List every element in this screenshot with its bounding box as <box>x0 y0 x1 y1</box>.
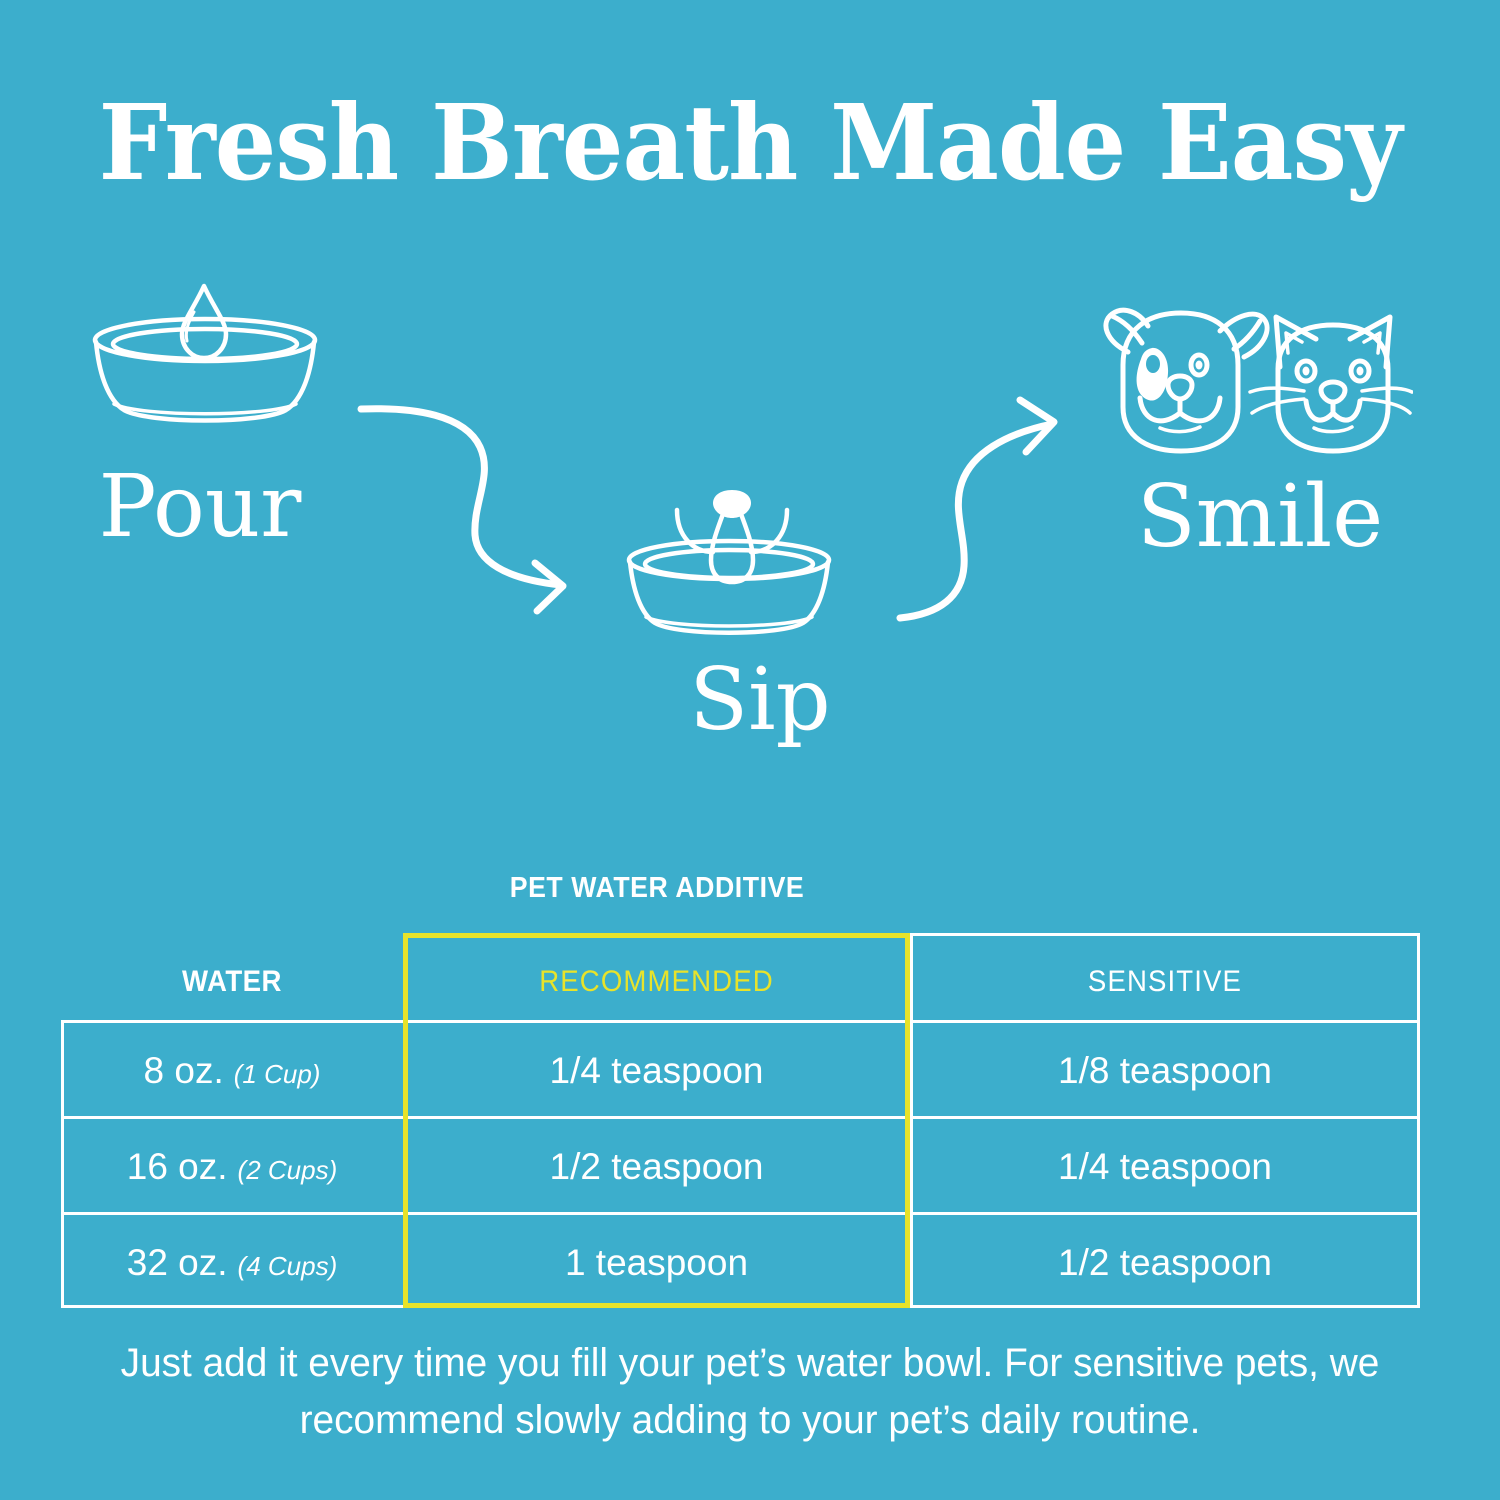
table-header-sensitive: SENSITIVE <box>930 965 1399 999</box>
table-header-recommended: RECOMMENDED <box>423 965 889 999</box>
table-header-water: WATER <box>75 965 390 999</box>
dosage-table: WATER RECOMMENDED SENSITIVE 8 oz.(1 Cup)… <box>61 933 1420 1308</box>
dog-and-cat-faces-icon <box>1068 295 1413 460</box>
cell-sensitive: 1/8 teaspoon <box>910 1050 1420 1092</box>
water-cups: (2 Cups) <box>238 1155 338 1185</box>
water-cups: (4 Cups) <box>238 1251 338 1281</box>
page-title: Fresh Breath Made Easy <box>53 88 1448 198</box>
step-label-pour: Pour <box>40 462 360 552</box>
grid-line-header-top <box>910 933 1420 936</box>
cell-recommended: 1/4 teaspoon <box>403 1050 910 1092</box>
footer-instructions: Just add it every time you fill your pet… <box>90 1335 1409 1449</box>
table-caption: PET WATER ADDITIVE <box>423 872 890 905</box>
arrow-sip-to-smile-icon <box>880 390 1080 635</box>
water-amount: 16 oz. <box>127 1146 228 1187</box>
arrow-pour-to-sip-icon <box>355 385 615 620</box>
cell-sensitive: 1/4 teaspoon <box>910 1146 1420 1188</box>
water-cups: (1 Cup) <box>234 1059 321 1089</box>
poster-canvas: Fresh Breath Made Easy Pour Sip <box>0 0 1500 1500</box>
water-bowl-with-drop-icon <box>90 278 320 428</box>
table-row: 8 oz.(1 Cup) <box>61 1050 403 1092</box>
cell-sensitive: 1/2 teaspoon <box>910 1242 1420 1284</box>
table-row: 16 oz.(2 Cups) <box>61 1146 403 1188</box>
step-label-smile: Smile <box>1090 472 1430 562</box>
water-amount: 8 oz. <box>144 1050 224 1091</box>
cell-recommended: 1/2 teaspoon <box>403 1146 910 1188</box>
cell-recommended: 1 teaspoon <box>403 1242 910 1284</box>
dog-drinking-from-bowl-icon <box>625 478 840 643</box>
table-row: 32 oz.(4 Cups) <box>61 1242 403 1284</box>
step-label-sip: Sip <box>600 655 920 745</box>
water-amount: 32 oz. <box>127 1242 228 1283</box>
